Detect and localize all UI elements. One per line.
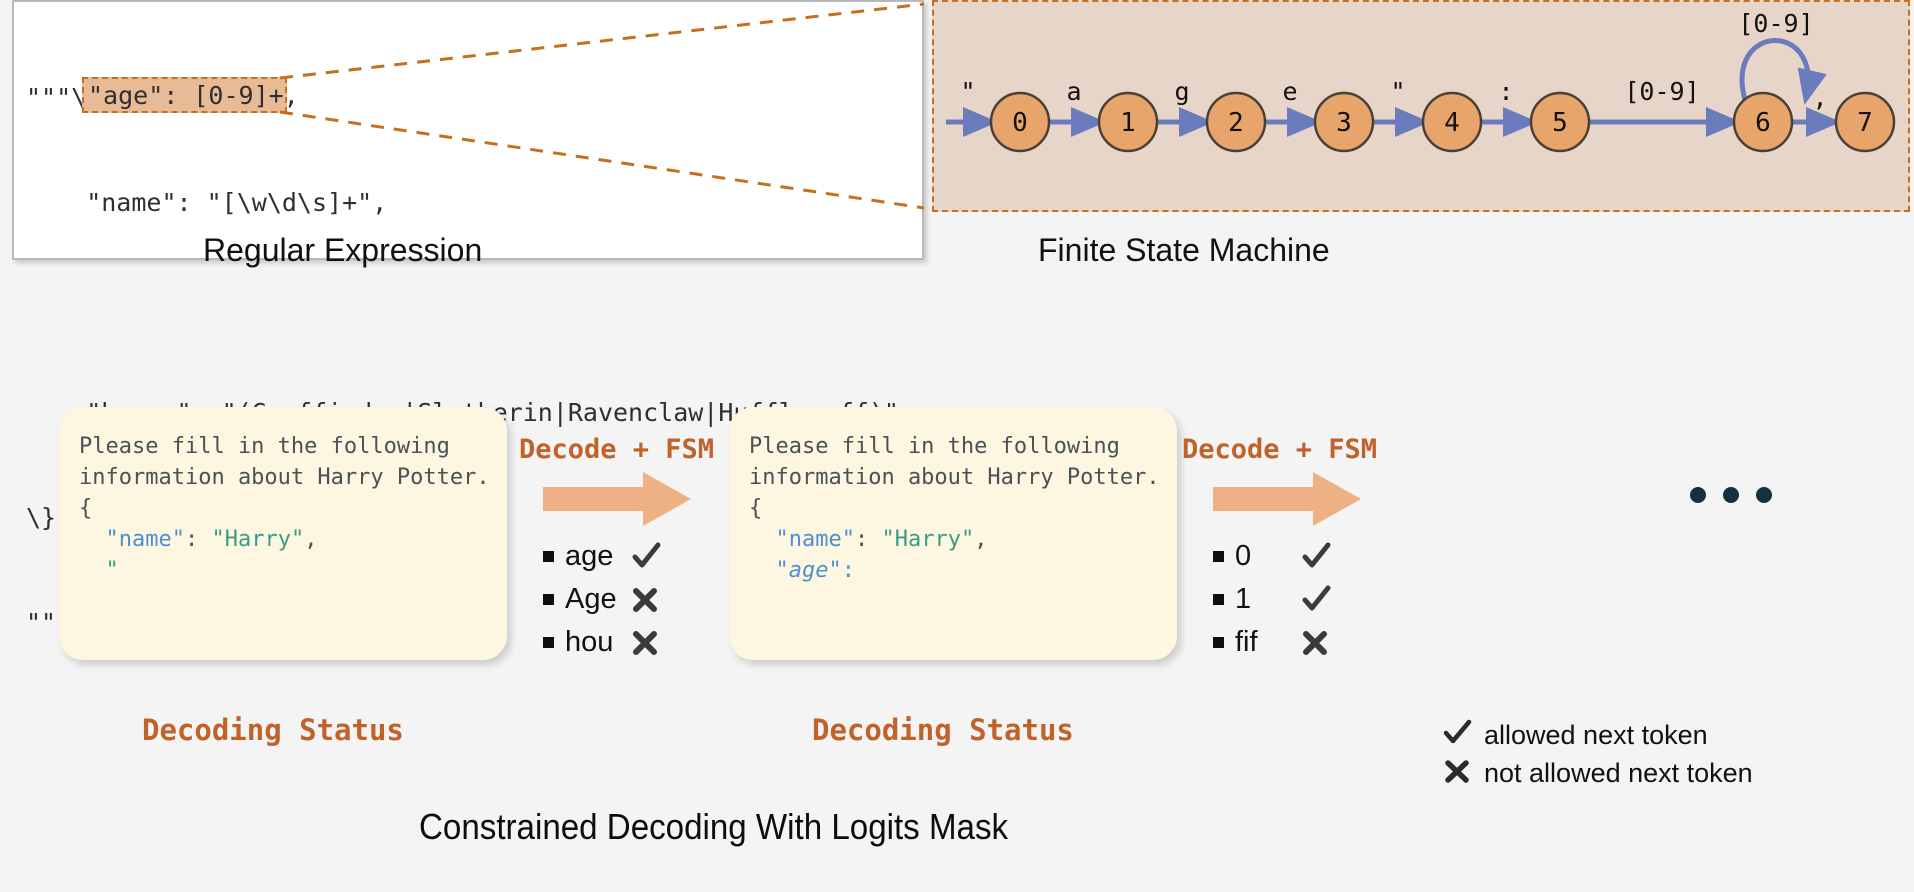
bullet-icon: [543, 551, 554, 562]
fsm-edge-label-e: e: [1282, 77, 1297, 106]
check-icon: [631, 542, 661, 572]
c2-comma-1: ,: [974, 527, 987, 552]
cross-icon: [1301, 629, 1329, 657]
prompt-card-2-text: Please fill in the following information…: [729, 407, 1177, 660]
cross-icon: [1442, 756, 1472, 791]
dot-icon: [1690, 487, 1706, 503]
c2-line-2: information about Harry Potter.: [749, 465, 1160, 490]
regex-line-2-placeholder: [26, 290, 922, 325]
fsm-loop-label-digit: [0-9]: [1738, 9, 1813, 38]
c1-comma-1: ,: [304, 527, 317, 552]
check-icon: [1442, 718, 1472, 753]
c1-key-name: "name": [106, 527, 185, 552]
c2-colon-1: :: [855, 527, 882, 552]
token-row: fif: [1213, 621, 1331, 664]
bullet-icon: [1213, 594, 1224, 605]
fsm-graph: 0 1 2 3 4 5 6 7 " a g e " : [0-9] [0-9] …: [934, 2, 1908, 210]
c1-colon-1: :: [185, 527, 212, 552]
figure-root: """\{ "name": "[\w\d\s]+", "house": "(Gr…: [0, 0, 1914, 892]
fsm-state-0: 0: [1012, 108, 1028, 138]
fsm-state-3: 3: [1336, 108, 1352, 138]
decode-arrow-1: [543, 470, 691, 528]
bullet-icon: [543, 594, 554, 605]
token-row: Age: [543, 578, 661, 621]
fsm-edge-label-comma: ,: [1812, 83, 1827, 112]
c2-key-age: "age": [776, 558, 842, 583]
decode-fsm-label-2: Decode + FSM: [1182, 434, 1377, 465]
prompt-card-step-2: Please fill in the following information…: [729, 407, 1177, 660]
dot-icon: [1723, 487, 1739, 503]
regex-line-1: "name": "[\w\d\s]+",: [26, 185, 922, 220]
ellipsis-indicator: [1690, 487, 1772, 503]
legend-label-allowed: allowed next token: [1484, 720, 1708, 751]
c2-key-name: "name": [776, 527, 855, 552]
c2-line-3: {: [749, 496, 762, 521]
regular-expression-box: """\{ "name": "[\w\d\s]+", "house": "(Gr…: [12, 0, 924, 260]
token-row: hou: [543, 621, 661, 664]
fsm-state-2: 2: [1228, 108, 1244, 138]
decoding-status-label-2: Decoding Status: [812, 713, 1074, 747]
token-row: 1: [1213, 578, 1331, 621]
check-icon: [1301, 542, 1331, 572]
legend: allowed next token not allowed next toke…: [1442, 716, 1753, 792]
dot-icon: [1756, 487, 1772, 503]
fsm-edge-label-g: g: [1174, 77, 1189, 106]
check-icon: [1301, 585, 1331, 615]
caption-finite-state-machine: Finite State Machine: [1038, 232, 1330, 269]
regex-code-block: """\{ "name": "[\w\d\s]+", "house": "(Gr…: [14, 2, 922, 258]
fsm-state-5: 5: [1552, 108, 1568, 138]
token-label: 0: [1235, 540, 1291, 573]
c2-colon-2: :: [842, 558, 855, 583]
prompt-card-step-1: Please fill in the following information…: [59, 407, 507, 660]
prompt-card-1-text: Please fill in the following information…: [59, 407, 507, 660]
fsm-edge-label-colon: :: [1498, 77, 1513, 106]
decoding-status-label-1: Decoding Status: [142, 713, 404, 747]
fsm-state-1: 1: [1120, 108, 1136, 138]
figure-bottom-caption: Constrained Decoding With Logits Mask: [419, 806, 1008, 848]
decode-fsm-label-1: Decode + FSM: [519, 434, 714, 465]
bullet-icon: [1213, 551, 1224, 562]
c1-line-2: information about Harry Potter.: [79, 465, 490, 490]
token-label: hou: [565, 626, 621, 659]
bullet-icon: [543, 637, 554, 648]
token-candidate-list-1: age Age hou: [543, 535, 661, 664]
caption-regular-expression: Regular Expression: [203, 232, 482, 269]
fsm-state-7: 7: [1857, 108, 1873, 138]
legend-label-not-allowed: not allowed next token: [1484, 758, 1753, 789]
token-label: Age: [565, 583, 621, 616]
c1-partial-quote: ": [106, 558, 119, 583]
fsm-edge-label-digit: [0-9]: [1624, 77, 1699, 106]
bullet-icon: [1213, 637, 1224, 648]
token-label: age: [565, 540, 621, 573]
decode-arrow-2: [1213, 470, 1361, 528]
c1-line-1: Please fill in the following: [79, 434, 450, 459]
token-row: age: [543, 535, 661, 578]
c2-line-1: Please fill in the following: [749, 434, 1120, 459]
age-rule-text: "age": [0-9]+,: [88, 81, 299, 111]
token-label: fif: [1235, 626, 1291, 659]
legend-row-allowed: allowed next token: [1442, 716, 1753, 754]
finite-state-machine-panel: 0 1 2 3 4 5 6 7 " a g e " : [0-9] [0-9] …: [932, 0, 1910, 212]
fsm-edge-label-quote-start: ": [960, 77, 975, 106]
cross-icon: [631, 629, 659, 657]
c1-val-harry: "Harry": [211, 527, 304, 552]
c2-val-harry: "Harry": [881, 527, 974, 552]
cross-icon: [631, 586, 659, 614]
c1-line-3: {: [79, 496, 92, 521]
token-candidate-list-2: 0 1 fif: [1213, 535, 1331, 664]
token-label: 1: [1235, 583, 1291, 616]
fsm-edge-label-a: a: [1066, 77, 1081, 106]
fsm-state-6: 6: [1755, 108, 1771, 138]
token-row: 0: [1213, 535, 1331, 578]
legend-row-not-allowed: not allowed next token: [1442, 754, 1753, 792]
fsm-state-4: 4: [1444, 108, 1460, 138]
fsm-edge-label-quote-end: ": [1390, 77, 1405, 106]
